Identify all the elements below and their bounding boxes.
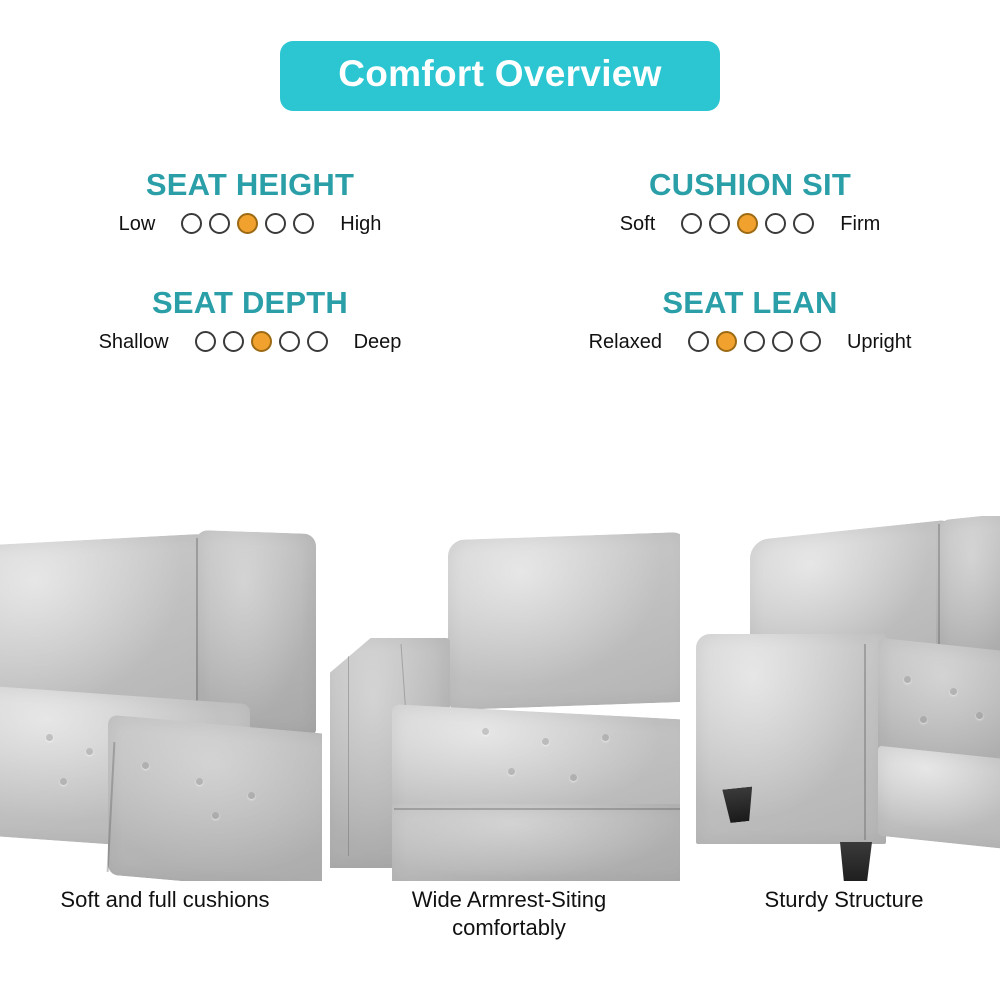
rating-dot-1[interactable] <box>688 331 709 352</box>
scale-left-label-seat-height: Low <box>119 214 156 234</box>
tuft-dimple <box>212 812 219 819</box>
tuft-dimple <box>508 768 515 775</box>
metric-scale-seat-height: Low High <box>119 213 382 234</box>
photo-caption-structure: Sturdy Structure <box>765 886 924 914</box>
tuft-dimple <box>542 738 549 745</box>
tuft-dimple <box>904 676 911 683</box>
tuft-dimple <box>248 792 255 799</box>
title-banner: Comfort Overview <box>280 41 720 111</box>
tuft-dimple <box>46 734 53 741</box>
scale-right-label-seat-height: High <box>340 214 381 234</box>
photo-canvas-structure <box>688 516 1000 881</box>
title-banner-container: Comfort Overview <box>0 41 1000 111</box>
rating-dot-2-selected[interactable] <box>716 331 737 352</box>
rating-dots-seat-height[interactable] <box>181 213 314 234</box>
metric-seat-depth: SEAT DEPTH Shallow Deep <box>0 286 500 352</box>
rating-dot-5[interactable] <box>800 331 821 352</box>
product-photo-structure <box>688 516 1000 881</box>
scale-left-label-seat-depth: Shallow <box>99 332 169 352</box>
scale-right-label-cushion-sit: Firm <box>840 214 880 234</box>
photo-canvas-armrest <box>330 516 680 881</box>
metric-title-seat-height: SEAT HEIGHT <box>146 168 354 202</box>
rating-dot-3[interactable] <box>744 331 765 352</box>
scale-left-label-cushion-sit: Soft <box>620 214 656 234</box>
rating-dot-5[interactable] <box>293 213 314 234</box>
rating-dot-3-selected[interactable] <box>251 331 272 352</box>
photo-caption-armrest: Wide Armrest-Siting comfortably <box>412 886 606 942</box>
seat-cushion-right <box>108 715 322 881</box>
page-title: Comfort Overview <box>338 55 662 94</box>
tuft-dimple <box>976 712 983 719</box>
rating-dots-cushion-sit[interactable] <box>681 213 814 234</box>
rating-dot-4[interactable] <box>772 331 793 352</box>
photo-caption-cushions: Soft and full cushions <box>60 886 269 914</box>
tuft-dimple <box>602 734 609 741</box>
tuft-dimple <box>482 728 489 735</box>
metric-scale-cushion-sit: Soft Firm <box>620 213 881 234</box>
product-photo-strip <box>0 516 1000 881</box>
sofa-leg-front <box>840 842 872 881</box>
rating-dot-2[interactable] <box>709 213 730 234</box>
product-photo-cushions <box>0 516 322 881</box>
rating-dot-4[interactable] <box>265 213 286 234</box>
rating-dots-seat-depth[interactable] <box>195 331 328 352</box>
metric-scale-seat-lean: Relaxed Upright <box>589 331 912 352</box>
metric-title-seat-depth: SEAT DEPTH <box>152 286 348 320</box>
tuft-dimple <box>196 778 203 785</box>
photo-captions: Soft and full cushions Wide Armrest-Siti… <box>0 884 1000 964</box>
metric-seat-height: SEAT HEIGHT Low High <box>0 168 500 234</box>
comfort-metrics-grid: SEAT HEIGHT Low High CUSHION SIT Soft <box>0 168 1000 352</box>
photo-canvas-cushions <box>0 516 322 881</box>
tuft-dimple <box>142 762 149 769</box>
tuft-dimple <box>920 716 927 723</box>
seat-base-seam <box>394 808 680 810</box>
back-cushion <box>448 532 680 710</box>
caption-cell-armrest: Wide Armrest-Siting comfortably <box>330 884 688 964</box>
rating-dot-2[interactable] <box>209 213 230 234</box>
seat-base <box>878 746 1000 853</box>
armrest-block <box>696 634 886 844</box>
rating-dot-5[interactable] <box>793 213 814 234</box>
rating-dot-4[interactable] <box>279 331 300 352</box>
rating-dot-1[interactable] <box>195 331 216 352</box>
rating-dots-seat-lean[interactable] <box>688 331 821 352</box>
scale-right-label-seat-depth: Deep <box>354 332 402 352</box>
scale-left-label-seat-lean: Relaxed <box>589 332 662 352</box>
metric-scale-seat-depth: Shallow Deep <box>99 331 402 352</box>
rating-dot-5[interactable] <box>307 331 328 352</box>
rating-dot-1[interactable] <box>681 213 702 234</box>
metric-title-seat-lean: SEAT LEAN <box>662 286 837 320</box>
rating-dot-3-selected[interactable] <box>737 213 758 234</box>
caption-cell-structure: Sturdy Structure <box>688 884 1000 964</box>
rating-dot-4[interactable] <box>765 213 786 234</box>
metric-cushion-sit: CUSHION SIT Soft Firm <box>500 168 1000 234</box>
tuft-dimple <box>570 774 577 781</box>
scale-right-label-seat-lean: Upright <box>847 332 911 352</box>
seat-base <box>392 804 680 881</box>
tuft-dimple <box>86 748 93 755</box>
tuft-dimple <box>60 778 67 785</box>
rating-dot-2[interactable] <box>223 331 244 352</box>
tuft-dimple <box>950 688 957 695</box>
armrest-edge-seam <box>864 644 866 840</box>
caption-cell-cushions: Soft and full cushions <box>0 884 330 964</box>
photo-gap <box>680 516 688 881</box>
metric-title-cushion-sit: CUSHION SIT <box>649 168 851 202</box>
rating-dot-3-selected[interactable] <box>237 213 258 234</box>
rating-dot-1[interactable] <box>181 213 202 234</box>
product-photo-armrest <box>330 516 680 881</box>
armrest-seam <box>348 656 349 856</box>
photo-gap <box>322 516 330 881</box>
metric-seat-lean: SEAT LEAN Relaxed Upright <box>500 286 1000 352</box>
